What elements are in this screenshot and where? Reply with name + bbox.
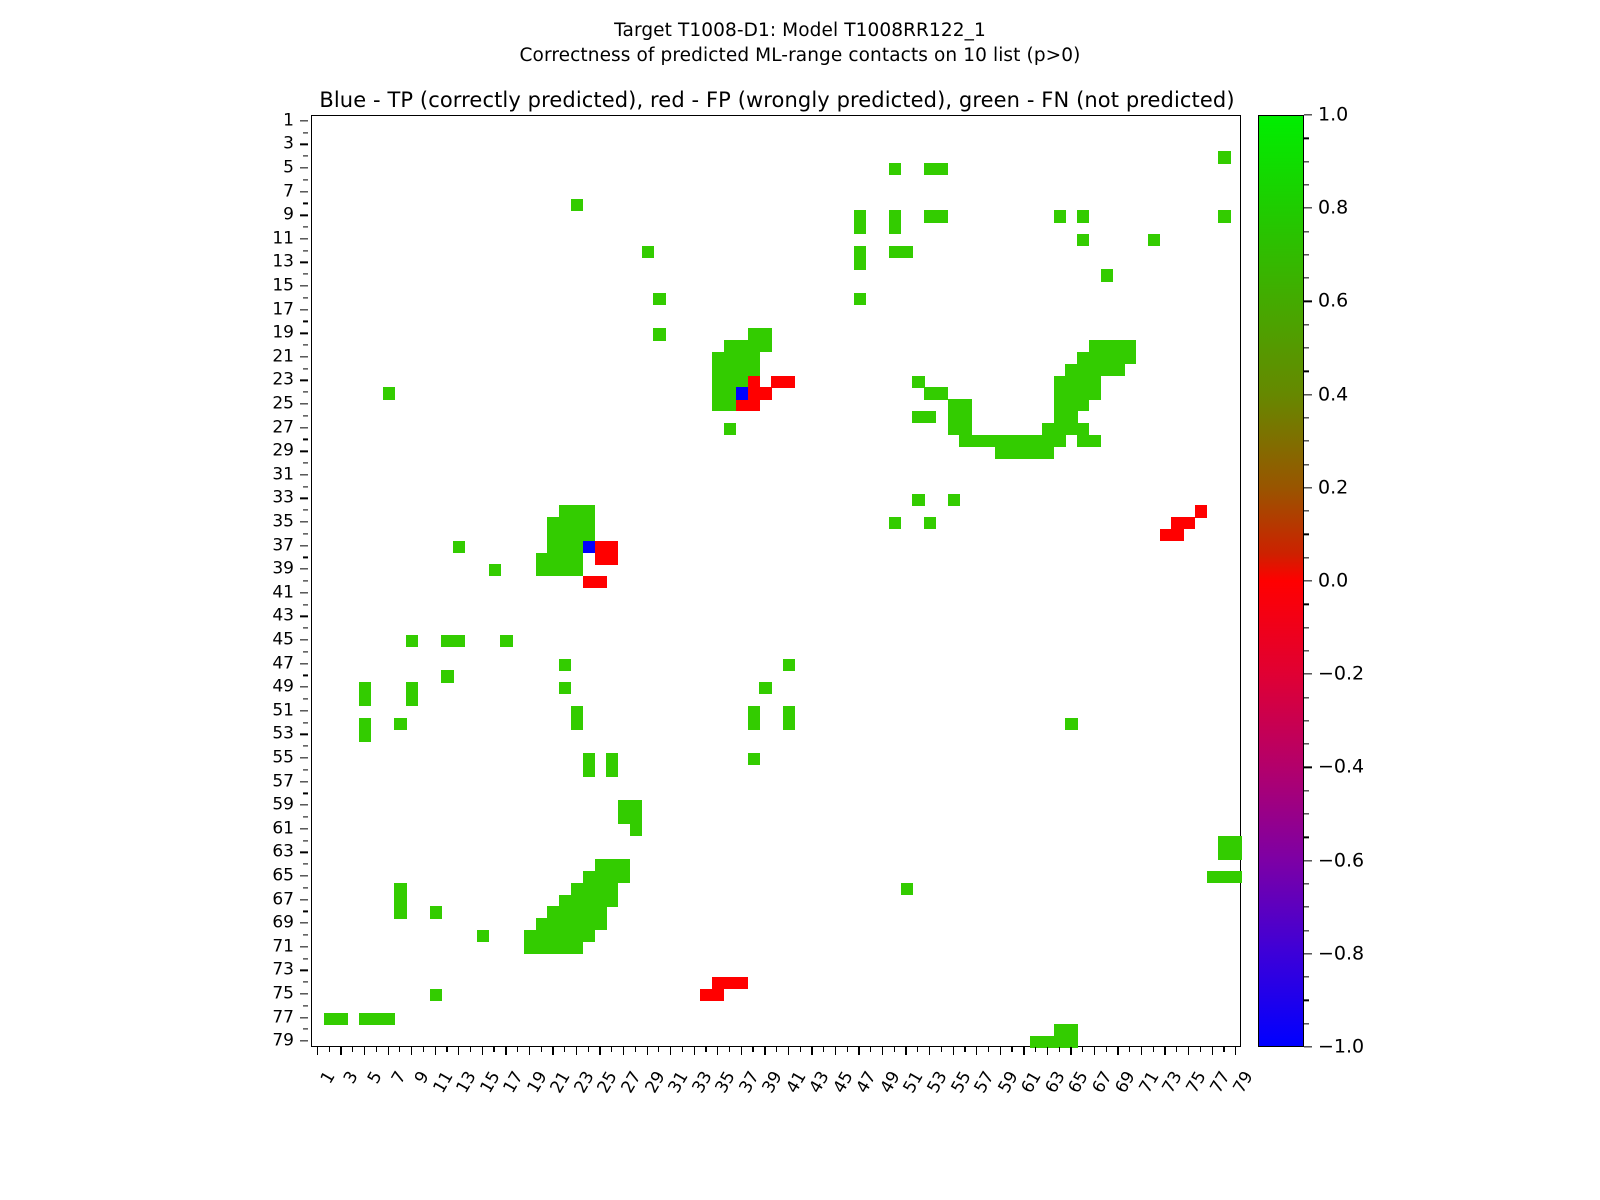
x-tick-mark	[917, 1047, 918, 1052]
x-tick-mark	[1011, 1047, 1012, 1052]
y-tick-label: 51	[272, 702, 294, 719]
colorbar-minor-tick	[1304, 1023, 1309, 1024]
y-tick-label: 13	[272, 254, 294, 271]
y-tick-mark	[303, 557, 308, 558]
contact-cell-fn	[1030, 446, 1042, 458]
colorbar-tick-label: −0.6	[1318, 851, 1364, 870]
contact-cell-fn	[559, 541, 571, 553]
x-tick-label: 65	[1066, 1069, 1092, 1096]
contact-cell-fn	[971, 435, 983, 447]
y-tick-label: 17	[272, 301, 294, 318]
x-tick-mark	[635, 1047, 636, 1052]
y-tick-mark	[300, 852, 308, 853]
x-tick-mark	[953, 1047, 954, 1055]
contact-cell-fp	[606, 541, 618, 553]
contact-cell-fn	[606, 871, 618, 883]
x-tick-mark	[1188, 1047, 1189, 1055]
contact-cell-fn	[559, 553, 571, 565]
contact-cell-fn	[1054, 435, 1066, 447]
x-tick-mark	[529, 1047, 530, 1055]
y-tick-mark	[300, 710, 308, 711]
y-tick-label: 43	[272, 608, 294, 625]
x-tick-mark	[694, 1047, 695, 1055]
x-tick-mark	[847, 1047, 848, 1052]
y-tick-mark	[303, 1029, 308, 1030]
x-tick-mark	[317, 1047, 318, 1055]
contact-cell-fn	[1018, 435, 1030, 447]
x-tick-mark	[776, 1047, 777, 1052]
contact-cell-fn	[1230, 836, 1242, 848]
x-tick-mark	[823, 1047, 824, 1052]
contact-cell-fn	[642, 246, 654, 258]
colorbar-minor-tick	[1304, 441, 1309, 442]
contact-cell-fn	[595, 871, 607, 883]
contact-cell-fn	[359, 729, 371, 741]
x-tick-mark	[1200, 1047, 1201, 1052]
contact-cell-fn	[336, 1013, 348, 1025]
y-tick-label: 55	[272, 749, 294, 766]
y-tick-mark	[303, 1005, 308, 1006]
x-tick-label: 27	[619, 1069, 645, 1096]
y-tick-mark	[303, 769, 308, 770]
contact-cell-fn	[889, 222, 901, 234]
contact-cell-fn	[724, 340, 736, 352]
contact-cell-fn	[595, 906, 607, 918]
contact-cell-fn	[759, 340, 771, 352]
y-tick-mark	[300, 120, 308, 121]
contact-cell-fn	[536, 553, 548, 565]
y-tick-mark	[303, 793, 308, 794]
contact-cell-fn	[1089, 435, 1101, 447]
x-tick-mark	[458, 1047, 459, 1055]
x-tick-mark	[764, 1047, 765, 1055]
contact-cell-fn	[606, 883, 618, 895]
contact-cell-fn	[559, 895, 571, 907]
contact-cell-fn	[1124, 340, 1136, 352]
x-tick-mark	[564, 1047, 565, 1052]
y-tick-mark	[300, 356, 308, 357]
x-tick-mark	[411, 1047, 412, 1055]
contact-cell-fn	[571, 918, 583, 930]
y-tick-label: 61	[272, 820, 294, 837]
y-tick-label: 63	[272, 844, 294, 861]
contact-cell-fn	[547, 906, 559, 918]
contact-cell-fn	[736, 352, 748, 364]
x-tick-label: 59	[996, 1069, 1022, 1096]
contact-cell-fn	[1089, 364, 1101, 376]
x-tick-mark	[599, 1047, 600, 1055]
y-tick-label: 35	[272, 514, 294, 531]
colorbar-tick-mark	[1304, 301, 1312, 302]
contact-cell-fn	[854, 222, 866, 234]
x-tick-mark	[340, 1047, 341, 1055]
contact-cell-fp	[748, 376, 760, 388]
y-tick-label: 9	[283, 207, 294, 224]
y-tick-label: 59	[272, 797, 294, 814]
contact-cell-fn	[571, 529, 583, 541]
y-tick-mark	[300, 545, 308, 546]
contact-cell-fn	[783, 718, 795, 730]
contact-cell-fn	[595, 883, 607, 895]
colorbar-minor-tick	[1304, 604, 1309, 605]
contact-cell-fn	[1065, 399, 1077, 411]
x-tick-mark	[364, 1047, 365, 1055]
contact-cell-fn	[595, 918, 607, 930]
colorbar-minor-tick	[1304, 254, 1309, 255]
y-tick-mark	[300, 238, 308, 239]
contact-cell-fp	[595, 553, 607, 565]
contact-cell-fn	[724, 423, 736, 435]
colorbar-minor-tick	[1304, 231, 1309, 232]
x-tick-mark	[552, 1047, 553, 1055]
y-tick-mark	[300, 639, 308, 640]
contact-cell-fn	[759, 328, 771, 340]
y-tick-label: 3	[283, 136, 294, 153]
y-tick-label: 67	[272, 891, 294, 908]
contact-cell-fn	[430, 989, 442, 1001]
colorbar-tick-mark	[1304, 580, 1312, 581]
contact-cell-fp	[783, 376, 795, 388]
contact-cell-fn	[524, 930, 536, 942]
x-tick-label: 1	[318, 1069, 338, 1087]
y-tick-mark	[300, 215, 308, 216]
x-tick-mark	[835, 1047, 836, 1055]
y-tick-label: 21	[272, 348, 294, 365]
y-tick-mark	[303, 675, 308, 676]
contact-cell-fn	[571, 942, 583, 954]
x-tick-mark	[870, 1047, 871, 1052]
x-tick-mark	[446, 1047, 447, 1052]
contact-cell-fn	[724, 376, 736, 388]
contact-cell-fn	[1007, 446, 1019, 458]
y-tick-label: 73	[272, 962, 294, 979]
contact-cell-fp	[1183, 517, 1195, 529]
contact-cell-fn	[901, 246, 913, 258]
contact-cell-fn	[1054, 423, 1066, 435]
contact-cell-fn	[583, 529, 595, 541]
contact-cell-fn	[1042, 446, 1054, 458]
contact-cell-fn	[724, 399, 736, 411]
contact-map-plot[interactable]	[311, 115, 1241, 1047]
y-tick-mark	[300, 828, 308, 829]
colorbar-minor-tick	[1304, 743, 1309, 744]
colorbar-minor-tick	[1304, 371, 1309, 372]
colorbar-minor-tick	[1304, 184, 1309, 185]
contact-cell-fp	[759, 387, 771, 399]
contact-cell-fn	[571, 553, 583, 565]
contact-cell-fn	[1089, 387, 1101, 399]
contact-cell-fn	[1218, 210, 1230, 222]
x-tick-label: 3	[342, 1069, 362, 1087]
y-tick-label: 79	[272, 1033, 294, 1050]
contact-cell-fn	[1065, 376, 1077, 388]
y-tick-label: 11	[272, 230, 294, 247]
contact-cell-fn	[606, 895, 618, 907]
contact-cell-fn	[394, 883, 406, 895]
x-tick-mark	[623, 1047, 624, 1055]
contact-cell-fn	[1218, 871, 1230, 883]
contact-cell-fn	[394, 718, 406, 730]
x-tick-mark	[811, 1047, 812, 1055]
x-tick-mark	[1000, 1047, 1001, 1055]
colorbar-tick-mark	[1304, 114, 1312, 115]
contact-cell-fn	[536, 942, 548, 954]
colorbar-tick-mark	[1304, 208, 1312, 209]
contact-cell-fn	[889, 246, 901, 258]
contact-cell-fn	[536, 918, 548, 930]
contact-cell-fn	[571, 199, 583, 211]
colorbar-tick-label: 0.4	[1318, 385, 1348, 404]
contact-cell-fn	[1113, 352, 1125, 364]
contact-cell-fn	[1089, 352, 1101, 364]
x-tick-label: 61	[1019, 1069, 1045, 1096]
contact-cell-tp	[583, 541, 595, 553]
y-tick-label: 45	[272, 631, 294, 648]
x-tick-mark	[729, 1047, 730, 1052]
x-tick-label: 39	[760, 1069, 786, 1096]
y-tick-mark	[300, 380, 308, 381]
x-tick-mark	[399, 1047, 400, 1052]
contact-cell-fn	[547, 553, 559, 565]
x-tick-label: 77	[1208, 1069, 1234, 1096]
x-tick-label: 63	[1043, 1069, 1069, 1096]
y-tick-mark	[303, 439, 308, 440]
contact-cell-fp	[595, 576, 607, 588]
contact-cell-fn	[583, 930, 595, 942]
x-tick-mark	[705, 1047, 706, 1052]
contact-cell-fp	[1171, 529, 1183, 541]
contact-cell-fn	[571, 541, 583, 553]
colorbar-minor-tick	[1304, 277, 1309, 278]
x-tick-label: 47	[855, 1069, 881, 1096]
y-tick-mark	[303, 132, 308, 133]
colorbar-minor-tick	[1304, 534, 1309, 535]
contact-cell-fn	[936, 210, 948, 222]
contact-cell-fn	[547, 918, 559, 930]
contact-cell-fn	[724, 352, 736, 364]
contact-cell-fp	[736, 399, 748, 411]
y-tick-mark	[303, 533, 308, 534]
colorbar-tick-mark	[1304, 767, 1312, 768]
contact-cell-fn	[924, 517, 936, 529]
x-tick-mark	[670, 1047, 671, 1055]
contact-cell-fn	[748, 352, 760, 364]
contact-cell-fn	[1065, 1024, 1077, 1036]
y-tick-mark	[303, 698, 308, 699]
contact-cell-fn	[359, 1013, 371, 1025]
x-tick-mark	[576, 1047, 577, 1055]
y-tick-mark	[300, 804, 308, 805]
x-tick-label: 79	[1231, 1069, 1257, 1096]
contact-cell-fn	[712, 387, 724, 399]
colorbar-minor-tick	[1304, 650, 1309, 651]
contact-cell-fn	[748, 718, 760, 730]
x-tick-label: 55	[949, 1069, 975, 1096]
contact-cell-fn	[1077, 352, 1089, 364]
contact-cell-fn	[477, 930, 489, 942]
y-tick-mark	[303, 958, 308, 959]
contact-cell-fn	[948, 399, 960, 411]
colorbar-minor-tick	[1304, 627, 1309, 628]
contact-cell-fn	[1042, 435, 1054, 447]
contact-cell-fn	[912, 376, 924, 388]
y-tick-mark	[303, 297, 308, 298]
contact-cell-fn	[854, 293, 866, 305]
x-tick-mark	[882, 1047, 883, 1055]
contact-cell-fn	[571, 883, 583, 895]
colorbar-tick-label: 1.0	[1318, 106, 1348, 125]
contact-cell-fn	[783, 706, 795, 718]
contact-cell-fn	[583, 765, 595, 777]
x-tick-label: 11	[431, 1069, 457, 1096]
colorbar-minor-tick	[1304, 1000, 1309, 1001]
contact-cell-fn	[1148, 234, 1160, 246]
x-tick-mark	[1164, 1047, 1165, 1055]
contact-cell-fn	[559, 505, 571, 517]
x-tick-label: 17	[501, 1069, 527, 1096]
contact-cell-fn	[736, 364, 748, 376]
contact-cell-fn	[595, 859, 607, 871]
contact-cell-fn	[583, 918, 595, 930]
contact-cell-fp	[1171, 517, 1183, 529]
colorbar-tick-mark	[1304, 674, 1312, 675]
colorbar-minor-tick	[1304, 883, 1309, 884]
contact-cell-fn	[995, 435, 1007, 447]
page-title-line-2: Correctness of predicted ML-range contac…	[0, 43, 1600, 68]
y-tick-mark	[303, 392, 308, 393]
y-tick-mark	[303, 651, 308, 652]
x-tick-mark	[1235, 1047, 1236, 1055]
y-tick-mark	[300, 875, 308, 876]
x-tick-mark	[329, 1047, 330, 1052]
contact-cell-fn	[441, 670, 453, 682]
contact-cell-fn	[1077, 399, 1089, 411]
contact-cell-fn	[583, 883, 595, 895]
y-tick-label: 47	[272, 655, 294, 672]
x-tick-label: 23	[572, 1069, 598, 1096]
contact-cell-fn	[1065, 387, 1077, 399]
x-tick-mark	[929, 1047, 930, 1055]
contact-cell-fn	[653, 328, 665, 340]
contact-cell-fn	[1007, 435, 1019, 447]
contact-cell-fn	[1101, 269, 1113, 281]
contact-cell-fn	[759, 682, 771, 694]
contact-cell-fn	[901, 883, 913, 895]
contact-cell-fn	[606, 753, 618, 765]
contact-cell-tp	[736, 387, 748, 399]
contact-cell-fn	[1054, 210, 1066, 222]
contact-cell-fn	[1089, 376, 1101, 388]
contact-cell-fn	[712, 376, 724, 388]
colorbar-tick-label: 0.0	[1318, 572, 1348, 591]
contact-cell-fn	[583, 906, 595, 918]
y-tick-label: 25	[272, 396, 294, 413]
y-tick-mark	[300, 427, 308, 428]
contact-cell-fn	[1018, 446, 1030, 458]
x-tick-label: 67	[1090, 1069, 1116, 1096]
contact-cell-fn	[1077, 387, 1089, 399]
x-tick-mark	[505, 1047, 506, 1055]
x-tick-label: 75	[1184, 1069, 1210, 1096]
contact-cell-fn	[1077, 364, 1089, 376]
colorbar-minor-tick	[1304, 161, 1309, 162]
contact-cell-fp	[606, 553, 618, 565]
contact-cell-fn	[559, 529, 571, 541]
colorbar-minor-tick	[1304, 510, 1309, 511]
contact-cell-fn	[406, 635, 418, 647]
contact-cell-fn	[571, 930, 583, 942]
contact-cell-fn	[371, 1013, 383, 1025]
y-tick-mark	[303, 934, 308, 935]
y-tick-mark	[303, 274, 308, 275]
contact-cell-fn	[630, 824, 642, 836]
contact-cell-fn	[948, 411, 960, 423]
y-tick-mark	[303, 344, 308, 345]
x-tick-mark	[517, 1047, 518, 1052]
y-tick-mark	[300, 1040, 308, 1041]
x-tick-mark	[647, 1047, 648, 1055]
contact-cell-fn	[359, 718, 371, 730]
x-tick-label: 69	[1114, 1069, 1140, 1096]
contact-cell-fn	[1113, 364, 1125, 376]
x-tick-mark	[800, 1047, 801, 1052]
contact-cell-fn	[1065, 423, 1077, 435]
y-tick-mark	[303, 840, 308, 841]
colorbar-tick-mark	[1304, 487, 1312, 488]
contact-cell-fn	[1077, 210, 1089, 222]
contact-cell-fn	[783, 659, 795, 671]
contact-cell-fp	[595, 541, 607, 553]
contact-cell-fn	[571, 517, 583, 529]
y-tick-mark	[300, 309, 308, 310]
contact-cell-fn	[630, 812, 642, 824]
contact-cell-fn	[383, 387, 395, 399]
contact-cell-fn	[948, 423, 960, 435]
contact-cell-fn	[712, 399, 724, 411]
x-tick-mark	[541, 1047, 542, 1052]
contact-cell-fn	[889, 517, 901, 529]
colorbar-minor-tick	[1304, 417, 1309, 418]
x-tick-mark	[470, 1047, 471, 1052]
y-tick-label: 69	[272, 915, 294, 932]
x-tick-label: 41	[784, 1069, 810, 1096]
contact-cell-fn	[547, 564, 559, 576]
contact-cell-fn	[1065, 718, 1077, 730]
contact-cell-fn	[712, 364, 724, 376]
x-axis: 1357911131517192123252729313335373941434…	[311, 1047, 1241, 1197]
contact-cell-fn	[712, 352, 724, 364]
x-tick-mark	[1223, 1047, 1224, 1052]
contact-cell-fn	[571, 564, 583, 576]
x-tick-mark	[1117, 1047, 1118, 1055]
x-tick-mark	[388, 1047, 389, 1055]
contact-cell-fn	[936, 163, 948, 175]
contact-cell-fn	[453, 635, 465, 647]
contact-cell-fn	[924, 210, 936, 222]
colorbar-tick-mark	[1304, 1046, 1312, 1047]
y-tick-mark	[300, 993, 308, 994]
x-tick-mark	[682, 1047, 683, 1052]
x-tick-label: 25	[596, 1069, 622, 1096]
contact-cell-fn	[736, 376, 748, 388]
contact-cell-fn	[441, 635, 453, 647]
colorbar[interactable]: 1.00.80.60.40.20.0−0.2−0.4−0.6−0.8−1.0	[1258, 115, 1304, 1047]
contact-cell-fn	[959, 435, 971, 447]
contact-cell-fn	[1077, 435, 1089, 447]
y-tick-mark	[303, 321, 308, 322]
x-tick-label: 45	[831, 1069, 857, 1096]
contact-cell-fn	[924, 163, 936, 175]
